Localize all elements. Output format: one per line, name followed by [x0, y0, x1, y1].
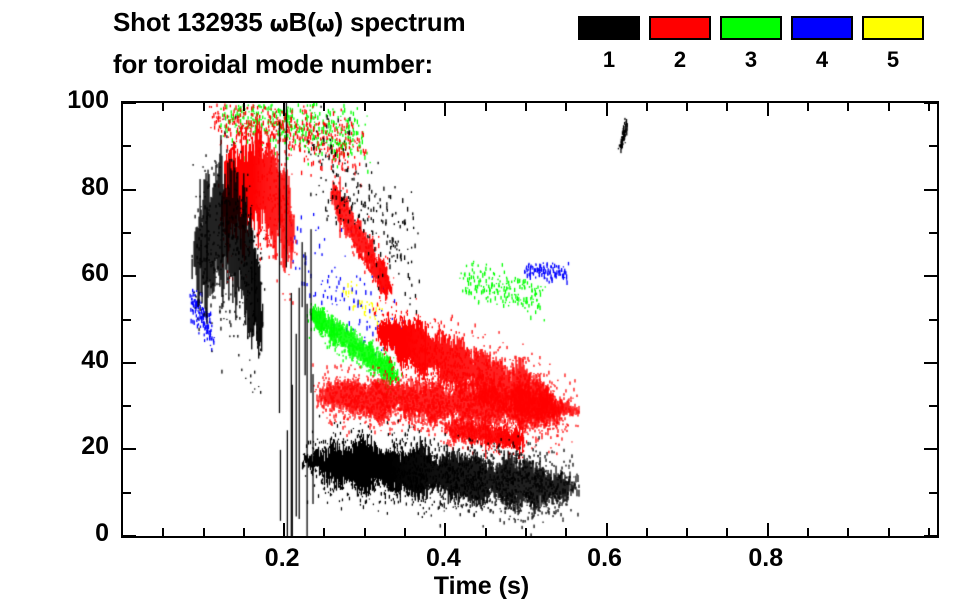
x-tick-minor-top	[404, 103, 406, 111]
y-tick-minor	[123, 405, 131, 407]
x-tick-minor-top	[888, 103, 890, 111]
x-tick-minor	[928, 528, 930, 536]
legend-swatch-mode-4	[791, 16, 853, 40]
x-tick-minor	[565, 528, 567, 536]
plot-area	[121, 101, 939, 538]
x-tick-minor	[364, 528, 366, 536]
y-tick-major	[123, 275, 136, 277]
y-tick-major	[123, 535, 136, 537]
x-tick-minor	[726, 528, 728, 536]
x-tick-minor-top	[243, 103, 245, 111]
y-tick-major	[123, 448, 136, 450]
x-tick-major	[444, 523, 446, 536]
legend-label-mode-5: 5	[862, 47, 924, 73]
x-tick-minor-top	[646, 103, 648, 111]
y-tick-minor-right	[929, 319, 937, 321]
x-tick-minor	[847, 528, 849, 536]
x-tick-major-top	[606, 103, 608, 116]
legend-swatch-mode-2	[649, 16, 711, 40]
x-tick-minor	[404, 528, 406, 536]
x-tick-minor-top	[162, 103, 164, 111]
y-tick-label: 40	[39, 348, 109, 373]
y-tick-minor	[123, 319, 131, 321]
title-prefix: Shot 132935	[113, 7, 270, 37]
x-tick-major	[606, 523, 608, 536]
spectrogram-canvas	[123, 103, 937, 536]
x-tick-major-top	[767, 103, 769, 116]
x-tick-minor	[686, 528, 688, 536]
legend-swatch-mode-3	[720, 16, 782, 40]
x-tick-minor-top	[323, 103, 325, 111]
x-tick-minor	[888, 528, 890, 536]
legend-item-mode-3[interactable]: 3	[720, 14, 784, 82]
x-tick-minor-top	[847, 103, 849, 111]
x-tick-minor-top	[565, 103, 567, 111]
x-axis-title: Time (s)	[0, 572, 963, 601]
x-tick-minor-top	[364, 103, 366, 111]
x-tick-minor-top	[928, 103, 930, 111]
mode-number-legend: 12345	[578, 14, 948, 84]
legend-label-mode-4: 4	[791, 47, 853, 73]
y-tick-major	[123, 362, 136, 364]
y-tick-label: 80	[39, 175, 109, 200]
legend-label-mode-2: 2	[649, 47, 711, 73]
x-tick-major-top	[444, 103, 446, 116]
x-tick-minor-top	[203, 103, 205, 111]
x-tick-major	[283, 523, 285, 536]
x-tick-minor	[646, 528, 648, 536]
y-tick-minor	[123, 145, 131, 147]
y-tick-major	[123, 102, 136, 104]
y-tick-major-right	[924, 102, 937, 104]
legend-item-mode-5[interactable]: 5	[862, 14, 926, 82]
y-tick-minor-right	[929, 405, 937, 407]
spectrogram-figure: Shot 132935 ωB(ω) spectrum for toroidal …	[0, 0, 963, 615]
y-tick-minor	[123, 232, 131, 234]
y-tick-major-right	[924, 448, 937, 450]
legend-label-mode-1: 1	[578, 47, 640, 73]
y-tick-label: 20	[39, 434, 109, 459]
title-mid: B(	[289, 7, 316, 37]
y-tick-major-right	[924, 535, 937, 537]
legend-item-mode-2[interactable]: 2	[649, 14, 713, 82]
y-tick-label: 60	[39, 261, 109, 286]
x-tick-minor-top	[807, 103, 809, 111]
x-tick-minor	[807, 528, 809, 536]
x-tick-minor	[323, 528, 325, 536]
x-tick-major	[767, 523, 769, 536]
x-tick-minor	[203, 528, 205, 536]
y-tick-label: 0	[39, 521, 109, 546]
x-tick-minor	[485, 528, 487, 536]
y-tick-major-right	[924, 362, 937, 364]
x-tick-label: 0.6	[560, 546, 650, 571]
y-tick-major	[123, 189, 136, 191]
y-tick-minor-right	[929, 232, 937, 234]
x-tick-label: 0.8	[721, 546, 811, 571]
y-tick-major-right	[924, 275, 937, 277]
x-tick-major-top	[283, 103, 285, 116]
legend-label-mode-3: 3	[720, 47, 782, 73]
figure-title-line-1: Shot 132935 ωB(ω) spectrum	[113, 7, 465, 38]
y-tick-minor	[123, 492, 131, 494]
legend-item-mode-1[interactable]: 1	[578, 14, 642, 82]
y-tick-major-right	[924, 189, 937, 191]
figure-title-line-2: for toroidal mode number:	[113, 49, 433, 80]
y-tick-minor-right	[929, 492, 937, 494]
legend-swatch-mode-1	[578, 16, 640, 40]
omega-symbol-2: ω	[316, 12, 335, 37]
legend-swatch-mode-5	[862, 16, 924, 40]
x-tick-minor-top	[726, 103, 728, 111]
omega-symbol-1: ω	[270, 12, 289, 37]
y-tick-minor-right	[929, 145, 937, 147]
x-tick-minor-top	[485, 103, 487, 111]
x-tick-minor	[162, 528, 164, 536]
x-tick-minor-top	[686, 103, 688, 111]
x-tick-label: 0.4	[398, 546, 488, 571]
legend-item-mode-4[interactable]: 4	[791, 14, 855, 82]
title-suffix: ) spectrum	[334, 7, 465, 37]
x-tick-minor	[525, 528, 527, 536]
x-tick-minor-top	[525, 103, 527, 111]
x-tick-label: 0.2	[237, 546, 327, 571]
x-tick-minor	[243, 528, 245, 536]
